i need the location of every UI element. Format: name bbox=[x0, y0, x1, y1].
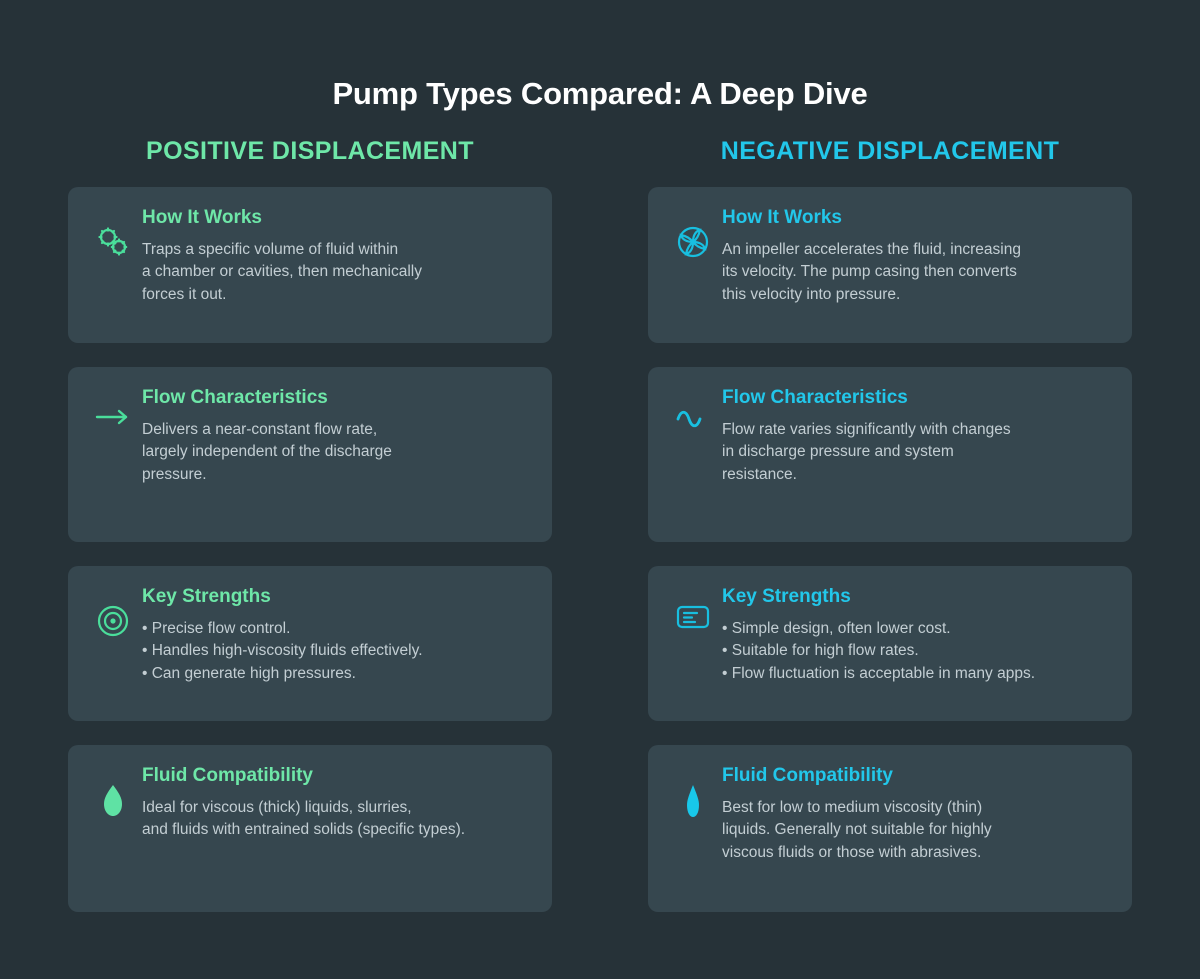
card-title: How It Works bbox=[722, 207, 1114, 230]
card-body: Flow Characteristics Flow rate varies si… bbox=[722, 385, 1114, 486]
column-negative-displacement: NEGATIVE DISPLACEMENT How It Works An im… bbox=[648, 137, 1132, 936]
target-icon bbox=[84, 584, 142, 638]
card-positive-flow-characteristics[interactable]: Flow Characteristics Delivers a near-con… bbox=[68, 367, 552, 542]
comparison-columns: POSITIVE DISPLACEMENT How It Works Traps… bbox=[0, 137, 1200, 936]
wave-icon bbox=[664, 385, 722, 429]
list-item: Handles high-viscosity fluids effectivel… bbox=[142, 640, 534, 663]
card-text: Flow rate varies significantly with chan… bbox=[722, 419, 1114, 487]
card-body: Fluid Compatibility Ideal for viscous (t… bbox=[142, 763, 534, 842]
card-body: Fluid Compatibility Best for low to medi… bbox=[722, 763, 1114, 864]
thin-droplet-icon bbox=[664, 763, 722, 825]
column-positive-displacement: POSITIVE DISPLACEMENT How It Works Traps… bbox=[68, 137, 552, 936]
list-item: Flow fluctuation is acceptable in many a… bbox=[722, 663, 1114, 686]
card-body: How It Works An impeller accelerates the… bbox=[722, 205, 1114, 306]
card-title: Key Strengths bbox=[142, 586, 534, 609]
card-title: Flow Characteristics bbox=[722, 387, 1114, 410]
card-body: Key Strengths Simple design, often lower… bbox=[722, 584, 1114, 685]
card-title: Fluid Compatibility bbox=[722, 765, 1114, 788]
straight-arrow-icon bbox=[84, 385, 142, 429]
card-positive-how-it-works[interactable]: How It Works Traps a specific volume of … bbox=[68, 187, 552, 343]
card-text: Delivers a near-constant flow rate, larg… bbox=[142, 419, 534, 487]
card-title: Flow Characteristics bbox=[142, 387, 534, 410]
card-text: An impeller accelerates the fluid, incre… bbox=[722, 239, 1114, 307]
card-body: Flow Characteristics Delivers a near-con… bbox=[142, 385, 534, 486]
card-bullet-list: Simple design, often lower cost. Suitabl… bbox=[722, 618, 1114, 686]
card-positive-key-strengths[interactable]: Key Strengths Precise flow control. Hand… bbox=[68, 566, 552, 721]
gear-pump-icon bbox=[84, 205, 142, 259]
card-positive-fluid-compatibility[interactable]: Fluid Compatibility Ideal for viscous (t… bbox=[68, 745, 552, 912]
card-bullet-list: Precise flow control. Handles high-visco… bbox=[142, 618, 534, 686]
infographic-page: Pump Types Compared: A Deep Dive POSITIV… bbox=[0, 21, 1200, 979]
card-title: Key Strengths bbox=[722, 586, 1114, 609]
card-negative-flow-characteristics[interactable]: Flow Characteristics Flow rate varies si… bbox=[648, 367, 1132, 542]
list-item: Simple design, often lower cost. bbox=[722, 618, 1114, 641]
column-heading-negative: NEGATIVE DISPLACEMENT bbox=[648, 137, 1132, 166]
list-card-icon bbox=[664, 584, 722, 630]
column-heading-positive: POSITIVE DISPLACEMENT bbox=[68, 137, 552, 166]
page-title: Pump Types Compared: A Deep Dive bbox=[0, 21, 1200, 111]
card-negative-how-it-works[interactable]: How It Works An impeller accelerates the… bbox=[648, 187, 1132, 343]
card-title: Fluid Compatibility bbox=[142, 765, 534, 788]
impeller-icon bbox=[664, 205, 722, 259]
card-body: How It Works Traps a specific volume of … bbox=[142, 205, 534, 306]
list-item: Suitable for high flow rates. bbox=[722, 640, 1114, 663]
card-title: How It Works bbox=[142, 207, 534, 230]
card-text: Best for low to medium viscosity (thin) … bbox=[722, 797, 1114, 865]
card-negative-key-strengths[interactable]: Key Strengths Simple design, often lower… bbox=[648, 566, 1132, 721]
card-text: Traps a specific volume of fluid within … bbox=[142, 239, 534, 307]
card-body: Key Strengths Precise flow control. Hand… bbox=[142, 584, 534, 685]
card-text: Ideal for viscous (thick) liquids, slurr… bbox=[142, 797, 534, 842]
thick-droplet-icon bbox=[84, 763, 142, 823]
list-item: Precise flow control. bbox=[142, 618, 534, 641]
list-item: Can generate high pressures. bbox=[142, 663, 534, 686]
card-negative-fluid-compatibility[interactable]: Fluid Compatibility Best for low to medi… bbox=[648, 745, 1132, 912]
